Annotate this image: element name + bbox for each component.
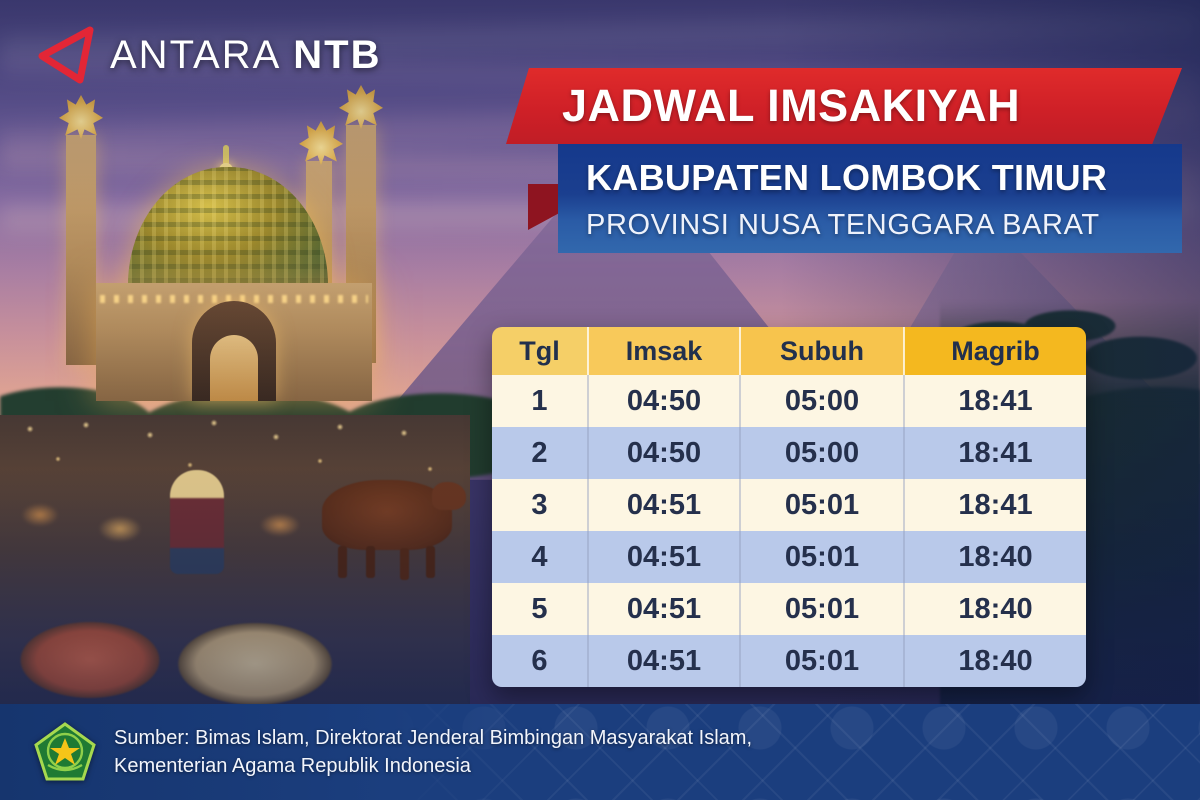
banner-subtitle-blue: KABUPATEN LOMBOK TIMUR PROVINSI NUSA TEN… bbox=[558, 144, 1182, 253]
poster-province: PROVINSI NUSA TENGGARA BARAT bbox=[586, 210, 1182, 242]
title-banner-group: JADWAL IMSAKIYAH KABUPATEN LOMBOK TIMUR … bbox=[506, 68, 1182, 253]
cell-imsak: 04:51 bbox=[588, 635, 740, 687]
antara-wordmark: ANTARA NTB bbox=[110, 35, 382, 75]
antara-name-secondary: NTB bbox=[293, 35, 381, 75]
prayer-schedule-table: Tgl Imsak Subuh Magrib 1 04:50 05:00 18:… bbox=[492, 327, 1086, 687]
cell-magrib: 18:40 bbox=[904, 531, 1086, 583]
cell-imsak: 04:50 bbox=[588, 375, 740, 427]
antara-triangle-icon bbox=[36, 26, 96, 84]
cell-imsak: 04:51 bbox=[588, 583, 740, 635]
table-row: 3 04:51 05:01 18:41 bbox=[492, 479, 1086, 531]
cell-subuh: 05:01 bbox=[740, 635, 904, 687]
schedule-table-card: Tgl Imsak Subuh Magrib 1 04:50 05:00 18:… bbox=[492, 327, 1086, 687]
antara-logo[interactable]: ANTARA NTB bbox=[36, 26, 382, 84]
cell-subuh: 05:01 bbox=[740, 479, 904, 531]
table-row: 6 04:51 05:01 18:40 bbox=[492, 635, 1086, 687]
source-attribution: Sumber: Bimas Islam, Direktorat Jenderal… bbox=[114, 724, 752, 781]
banner-title-red: JADWAL IMSAKIYAH bbox=[506, 68, 1182, 144]
cell-magrib: 18:40 bbox=[904, 635, 1086, 687]
source-line-2: Kementerian Agama Republik Indonesia bbox=[114, 752, 752, 780]
cell-tgl: 1 bbox=[492, 375, 588, 427]
cell-subuh: 05:01 bbox=[740, 583, 904, 635]
table-row: 1 04:50 05:00 18:41 bbox=[492, 375, 1086, 427]
antara-name-primary: ANTARA bbox=[110, 35, 281, 75]
cell-magrib: 18:41 bbox=[904, 375, 1086, 427]
source-line-1: Sumber: Bimas Islam, Direktorat Jenderal… bbox=[114, 724, 752, 752]
cell-tgl: 6 bbox=[492, 635, 588, 687]
cell-magrib: 18:41 bbox=[904, 427, 1086, 479]
poster-title: JADWAL IMSAKIYAH bbox=[562, 80, 1020, 132]
column-header-tgl: Tgl bbox=[492, 327, 588, 375]
cell-imsak: 04:51 bbox=[588, 531, 740, 583]
cell-imsak: 04:51 bbox=[588, 479, 740, 531]
table-row: 2 04:50 05:00 18:41 bbox=[492, 427, 1086, 479]
cell-imsak: 04:50 bbox=[588, 427, 740, 479]
cell-magrib: 18:40 bbox=[904, 583, 1086, 635]
cell-subuh: 05:00 bbox=[740, 427, 904, 479]
table-header-row: Tgl Imsak Subuh Magrib bbox=[492, 327, 1086, 375]
kemenag-pentagon-star-icon bbox=[34, 722, 96, 782]
table-row: 4 04:51 05:01 18:40 bbox=[492, 531, 1086, 583]
cell-tgl: 4 bbox=[492, 531, 588, 583]
cell-subuh: 05:01 bbox=[740, 531, 904, 583]
imsakiyah-poster: ANTARA NTB JADWAL IMSAKIYAH KABUPATEN LO… bbox=[0, 0, 1200, 800]
column-header-subuh: Subuh bbox=[740, 327, 904, 375]
column-header-imsak: Imsak bbox=[588, 327, 740, 375]
cell-magrib: 18:41 bbox=[904, 479, 1086, 531]
column-header-magrib: Magrib bbox=[904, 327, 1086, 375]
cell-tgl: 2 bbox=[492, 427, 588, 479]
cell-tgl: 3 bbox=[492, 479, 588, 531]
cell-subuh: 05:00 bbox=[740, 375, 904, 427]
source-footer-band: Sumber: Bimas Islam, Direktorat Jenderal… bbox=[0, 704, 1200, 800]
poster-subtitle: KABUPATEN LOMBOK TIMUR bbox=[586, 158, 1182, 198]
cell-tgl: 5 bbox=[492, 583, 588, 635]
table-row: 5 04:51 05:01 18:40 bbox=[492, 583, 1086, 635]
